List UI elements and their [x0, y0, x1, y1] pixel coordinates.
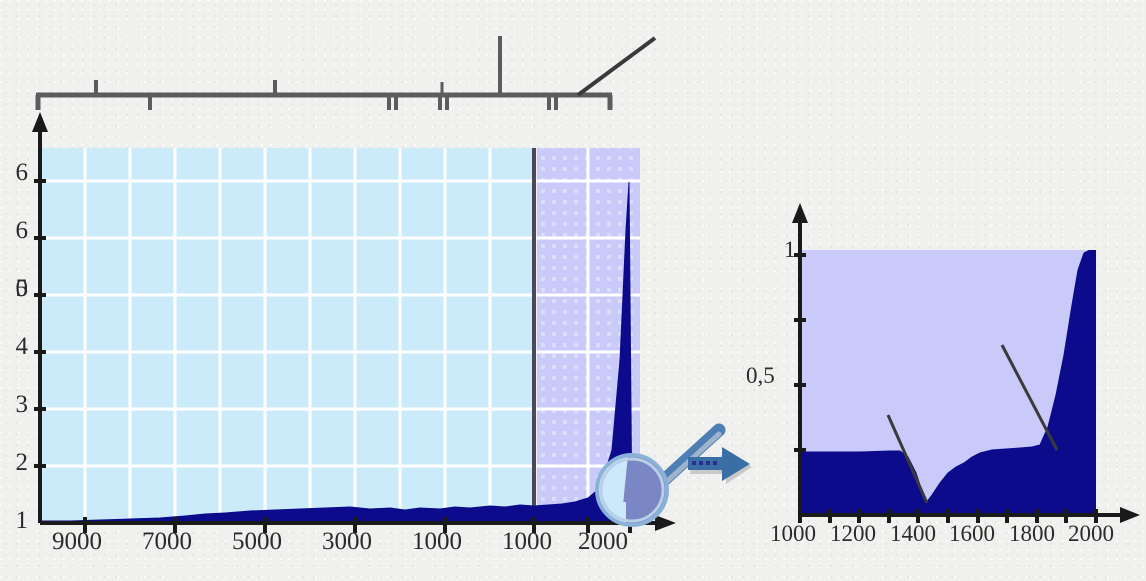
main-xtick-1000bc: 1000	[412, 528, 462, 556]
timeline-diagonal-line	[578, 38, 655, 95]
y-axis-arrow-icon	[32, 112, 48, 132]
main-xtick-1000ad: 1000	[502, 528, 552, 556]
inset-xtick-1200: 1200	[830, 521, 876, 547]
inset-chart: 0,5 1	[740, 195, 1146, 581]
inset-xtick-1400: 1400	[890, 521, 936, 547]
main-xtick-7000bc: 7000	[142, 528, 192, 556]
inset-x-axis-arrow-icon	[1120, 507, 1140, 523]
inset-xtick-1000: 1000	[770, 521, 816, 547]
main-xtick-9000bc: 9000	[52, 528, 102, 556]
main-xtick-3000bc: 3000	[322, 528, 372, 556]
era-scale-bar	[0, 0, 700, 115]
inset-xtick-1600: 1600	[949, 521, 995, 547]
inset-xtick-1800: 1800	[1009, 521, 1055, 547]
inset-y-axis-arrow-icon	[792, 203, 808, 223]
main-xtick-5000bc: 5000	[232, 528, 282, 556]
inset-xtick-2000: 2000	[1068, 521, 1114, 547]
